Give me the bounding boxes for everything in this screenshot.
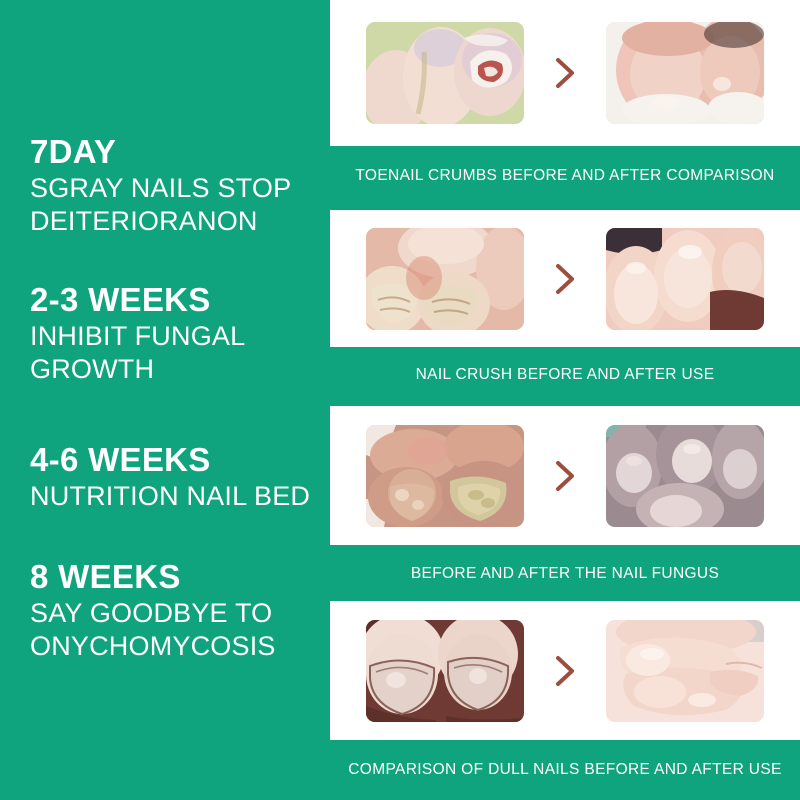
chevron-right-icon-3 (550, 456, 580, 496)
chevron-right-icon-2 (550, 259, 580, 299)
stage-block-1: 7DAY SGRAY NAILS STOP DEITERIORANON (30, 135, 330, 238)
stages-column: 7DAY SGRAY NAILS STOP DEITERIORANON 2-3 … (0, 0, 330, 800)
stage-description-4: SAY GOODBYE TO ONYCHOMYCOSIS (30, 597, 330, 663)
chevron-right-icon-4 (550, 651, 580, 691)
stage-block-3: 4-6 WEEKS NUTRITION NAIL BED (30, 443, 310, 513)
after-photo-4 (606, 620, 764, 722)
infographic-root: 7DAY SGRAY NAILS STOP DEITERIORANON 2-3 … (0, 0, 800, 800)
stage-duration-4: 8 WEEKS (30, 560, 330, 595)
before-photo-2 (366, 228, 524, 330)
before-photo-3 (366, 425, 524, 527)
stage-description-3: NUTRITION NAIL BED (30, 480, 310, 513)
after-photo-2 (606, 228, 764, 330)
panel-caption-3: BEFORE AND AFTER THE NAIL FUNGUS (330, 565, 800, 583)
stage-duration-2: 2-3 WEEKS (30, 283, 330, 318)
stage-duration-1: 7DAY (30, 135, 330, 170)
comparison-panel-1 (330, 0, 800, 146)
panel-caption-1: TOENAIL CRUMBS BEFORE AND AFTER COMPARIS… (330, 167, 800, 185)
after-photo-3 (606, 425, 764, 527)
panel-caption-2: NAIL CRUSH BEFORE AND AFTER USE (330, 366, 800, 384)
stage-description-1: SGRAY NAILS STOP DEITERIORANON (30, 172, 330, 238)
chevron-right-icon-1 (550, 53, 580, 93)
comparison-panel-4 (330, 601, 800, 740)
comparison-panel-2 (330, 210, 800, 347)
after-photo-1 (606, 22, 764, 124)
stage-block-4: 8 WEEKS SAY GOODBYE TO ONYCHOMYCOSIS (30, 560, 330, 663)
before-photo-4 (366, 620, 524, 722)
stage-duration-3: 4-6 WEEKS (30, 443, 310, 478)
comparison-panel-3 (330, 406, 800, 545)
stage-description-2: INHIBIT FUNGAL GROWTH (30, 320, 330, 386)
stage-block-2: 2-3 WEEKS INHIBIT FUNGAL GROWTH (30, 283, 330, 386)
before-photo-1 (366, 22, 524, 124)
panel-caption-4: COMPARISON OF DULL NAILS BEFORE AND AFTE… (330, 761, 800, 779)
